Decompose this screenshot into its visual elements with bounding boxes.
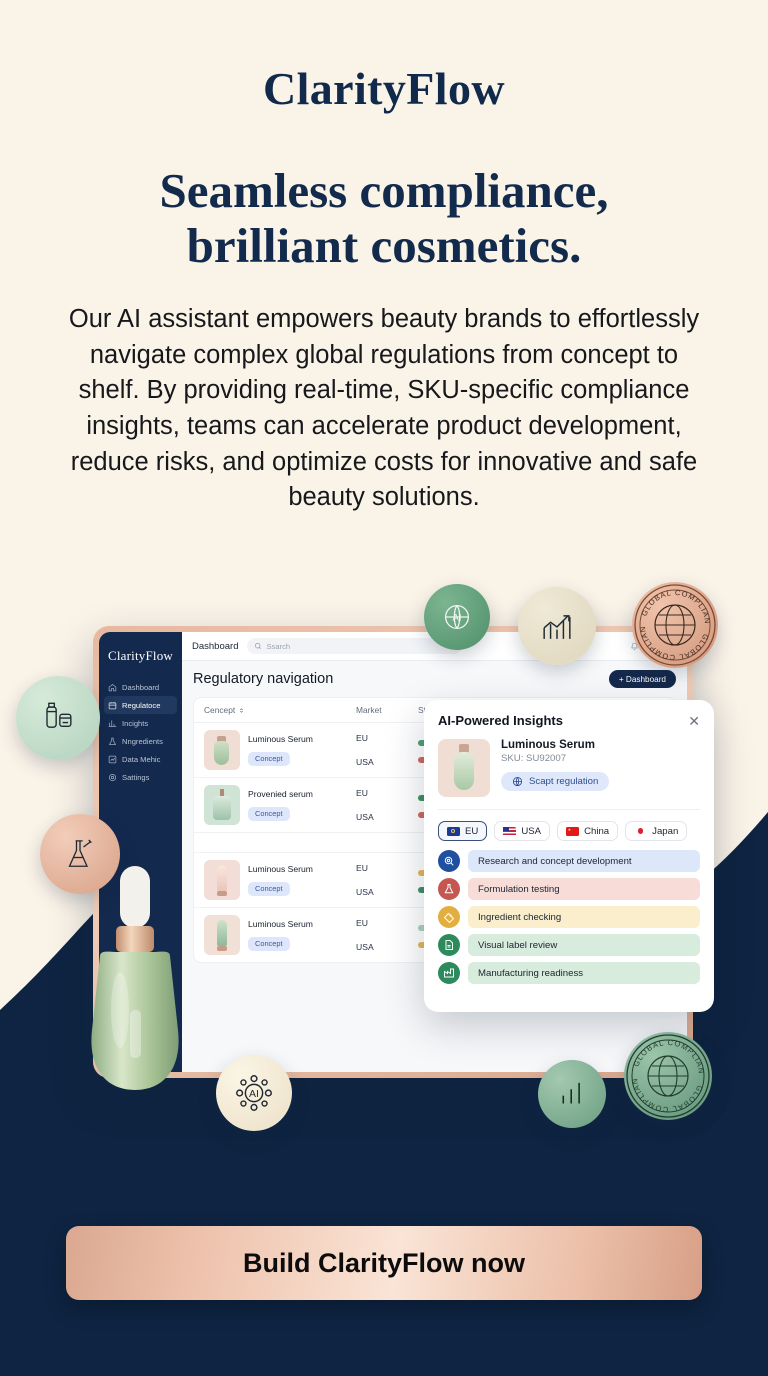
workflow-step-research[interactable]: Research and concept development [438, 850, 700, 872]
search-input[interactable]: Ssarch [247, 638, 462, 654]
market-tab-china[interactable]: ★ China [557, 821, 618, 841]
market-cell: EU USA [356, 733, 418, 767]
svg-text:GLOBAL COMPLIANCE: GLOBAL COMPLIANCE [632, 582, 712, 625]
topbar-title: Dashboard [192, 641, 238, 652]
global-compliance-seal-rose: GLOBAL COMPLIANCE GLOBAL COMPLIANCE [632, 582, 718, 668]
ai-globe-icon: AI [436, 596, 478, 638]
svg-text:GLOBAL COMPLIANCE: GLOBAL COMPLIANCE [624, 1032, 706, 1075]
market-tab-eu[interactable]: EU [438, 821, 487, 841]
workflow-step-label: Manufacturing readiness [468, 962, 700, 984]
poster-canvas: ClarityFlow Seamless compliance, brillia… [0, 0, 768, 1376]
cosmetics-bottle-badge [16, 676, 100, 760]
cta-button[interactable]: Build ClarityFlow now [66, 1226, 702, 1300]
tag-icon [438, 906, 460, 928]
svg-text:AI: AI [452, 613, 461, 624]
ai-node-icon: AI [231, 1070, 277, 1116]
market-cell: EU USA [356, 863, 418, 897]
sidebar-item-ingredients[interactable]: Nngredients [99, 732, 182, 750]
product-name: Luminous Serum [248, 864, 313, 874]
calendar-icon [108, 701, 117, 710]
insights-product: Luminous Serum SKU: SU92007 Scapt regula… [438, 739, 700, 810]
sort-icon [238, 707, 245, 714]
search-placeholder: Ssarch [266, 642, 290, 651]
analytics-badge [518, 587, 596, 665]
workflow-step-label: Research and concept development [468, 850, 700, 872]
global-compliance-seal-green: GLOBAL COMPLIANCE GLOBAL COMPLIANCE [624, 1032, 712, 1120]
market-cell: EU USA [356, 918, 418, 952]
ai-insights-panel: AI-Powered Insights ✕ Luminous Serum SKU… [424, 700, 714, 1012]
flag-china-icon: ★ [566, 827, 579, 836]
brand-logo: ClarityFlow [0, 62, 768, 115]
page-title: Seamless compliance, brilliant cosmetics… [0, 163, 768, 274]
document-icon [438, 934, 460, 956]
product-composition: ClarityFlow Dashboard Regulatoce Incight… [0, 560, 768, 1160]
bar-chart-badge [538, 1060, 606, 1128]
regulation-chip[interactable]: Scapt regulation [501, 772, 609, 791]
sidebar-item-label: Nngredients [122, 737, 163, 746]
sidebar-item-label: Data Mehic [122, 755, 160, 764]
close-icon[interactable]: ✕ [688, 714, 700, 728]
sidebar-item-regulations[interactable]: Regulatoce [104, 696, 177, 714]
bar-chart-icon [553, 1075, 591, 1113]
analytics-icon [108, 755, 117, 764]
product-thumbnail [204, 730, 240, 770]
home-icon [108, 683, 117, 692]
market-tab-japan[interactable]: Japan [625, 821, 687, 841]
globe-icon [512, 776, 523, 787]
bar-chart-trend-icon [535, 604, 579, 648]
product-name: Luminous Serum [248, 919, 313, 929]
insights-title: AI-Powered Insights [438, 713, 563, 728]
market-tabs: EU USA ★ China [438, 821, 700, 841]
factory-icon [438, 962, 460, 984]
sidebar-item-dashboard[interactable]: Dashboard [99, 678, 182, 696]
product-thumbnail [204, 785, 240, 825]
column-header-concept[interactable]: Cencept [204, 705, 356, 715]
sidebar-item-label: Regulatoce [122, 701, 160, 710]
flag-usa-icon [503, 827, 516, 836]
serum-bottle-product-image [70, 860, 210, 1100]
product-sku: SKU: SU92007 [501, 753, 609, 764]
product-thumbnail [438, 739, 490, 797]
add-dashboard-button[interactable]: + Dashboard [609, 670, 676, 688]
sidebar-item-label: Sattings [122, 773, 149, 782]
market-cell: EU USA [356, 788, 418, 822]
sidebar-item-insights[interactable]: Incights [99, 714, 182, 732]
chart-icon [108, 719, 117, 728]
status-badge: Concept [248, 937, 290, 951]
workflow-steps: Research and concept development Formula… [438, 850, 700, 984]
workflow-step-formulation[interactable]: Formulation testing [438, 878, 700, 900]
column-header-market: Market [356, 705, 418, 715]
sidebar-item-label: Dashboard [122, 683, 159, 692]
product-name: Luminous Serum [501, 739, 609, 751]
status-badge: Concept [248, 752, 290, 766]
flag-eu-icon [447, 827, 460, 836]
svg-text:AI: AI [249, 1088, 259, 1100]
regulation-chip-label: Scapt regulation [529, 776, 598, 787]
sidebar-item-label: Incights [122, 719, 148, 728]
status-badge: Concept [248, 807, 290, 821]
search-icon [254, 642, 262, 650]
gear-icon [108, 773, 117, 782]
workflow-step-label: Visual label review [468, 934, 700, 956]
market-tab-usa[interactable]: USA [494, 821, 550, 841]
flag-japan-icon [634, 827, 647, 836]
workflow-step-label: Ingredient checking [468, 906, 700, 928]
flask-icon [438, 878, 460, 900]
hero-subcopy: Our AI assistant empowers beauty brands … [60, 302, 708, 516]
search-target-icon [438, 850, 460, 872]
workflow-step-ingredient[interactable]: Ingredient checking [438, 906, 700, 928]
status-badge: Concept [248, 882, 290, 896]
flask-icon [108, 737, 117, 746]
headline-line-2: brilliant cosmetics. [0, 218, 768, 273]
product-name: Provenied serum [248, 789, 313, 799]
panel-title: Regulatory navigation [193, 671, 333, 687]
ai-node-badge: AI [216, 1055, 292, 1131]
sidebar-item-data-metric[interactable]: Data Mehic [99, 750, 182, 768]
cosmetics-bottle-icon [36, 696, 80, 740]
headline-line-1: Seamless compliance, [0, 163, 768, 218]
product-name: Luminous Serum [248, 734, 313, 744]
workflow-step-visual-label[interactable]: Visual label review [438, 934, 700, 956]
sidebar-item-settings[interactable]: Sattings [99, 768, 182, 786]
ai-brain-badge: AI [424, 584, 490, 650]
sidebar-logo: ClarityFlow [99, 644, 182, 678]
workflow-step-manufacturing[interactable]: Manufacturing readiness [438, 962, 700, 984]
workflow-step-label: Formulation testing [468, 878, 700, 900]
